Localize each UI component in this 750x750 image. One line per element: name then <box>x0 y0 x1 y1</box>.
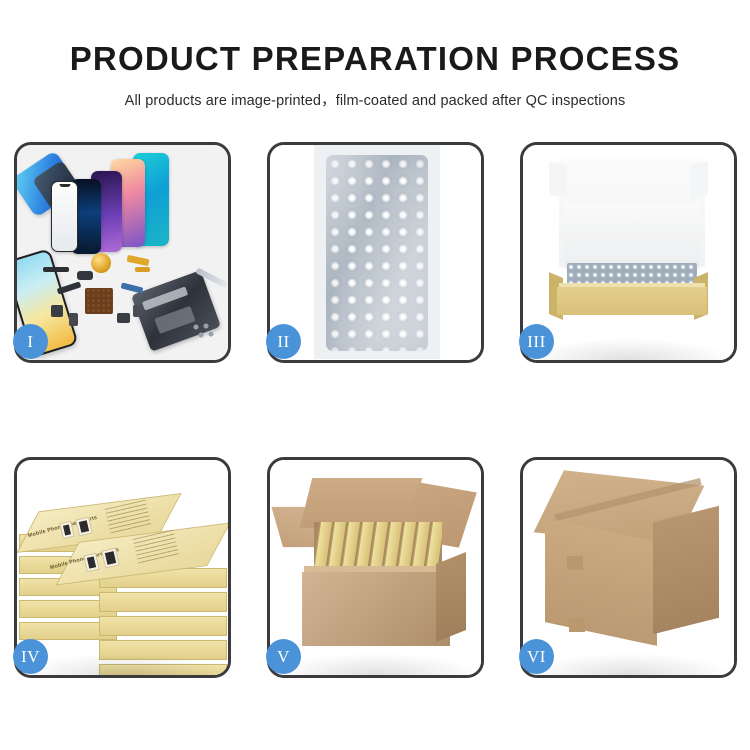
carton-flap-back <box>300 478 422 528</box>
step-image-inner-box <box>523 145 734 360</box>
drop-shadow <box>523 338 734 360</box>
steps-grid: I II III <box>14 142 736 678</box>
step-image-carton-sealed <box>523 460 734 675</box>
logic-board-icon <box>131 270 221 352</box>
flex-cable-icon <box>127 255 150 266</box>
chip-array-icon <box>85 288 113 314</box>
step-panel-3[interactable]: III <box>520 142 737 363</box>
speaker-module-icon <box>91 253 111 273</box>
stack-box-f3 <box>99 616 227 636</box>
header: PRODUCT PREPARATION PROCESS All products… <box>0 0 750 110</box>
box-stack: Mobile Phone Spare Parts Mobile Phone Sp… <box>17 476 228 668</box>
page-subtitle: All products are image-printed，film-coat… <box>0 89 750 110</box>
step-badge-2: II <box>266 324 301 359</box>
step-panel-2[interactable]: II <box>267 142 484 363</box>
step-panel-1[interactable]: I <box>14 142 231 363</box>
component-chip-icon <box>117 313 130 323</box>
carton-front-panel <box>302 572 450 646</box>
component-square-icon <box>51 305 63 317</box>
phone-white-icon <box>51 181 78 252</box>
drop-shadow <box>270 653 481 675</box>
step-image-bubble-wrap <box>270 145 481 360</box>
component-connector-icon <box>69 313 78 326</box>
earpiece-icon <box>43 267 69 272</box>
step-badge-5: V <box>266 639 301 674</box>
stack-box-f2 <box>99 592 227 612</box>
page-title: PRODUCT PREPARATION PROCESS <box>0 42 750 75</box>
product-preparation-infographic: PRODUCT PREPARATION PROCESS All products… <box>0 0 750 750</box>
carton-tab-upper <box>567 556 583 570</box>
drop-shadow <box>523 653 734 675</box>
step-badge-6: VI <box>519 639 554 674</box>
step-badge-1: I <box>13 324 48 359</box>
bubble-wrap-icon <box>326 155 428 351</box>
carton-side-panel <box>436 552 466 642</box>
step-badge-4: IV <box>13 639 48 674</box>
step-panel-4[interactable]: Mobile Phone Spare Parts Mobile Phone Sp… <box>14 457 231 678</box>
step-image-products <box>17 145 228 360</box>
flex-cable-small-icon <box>135 267 150 272</box>
foam-sheet <box>565 203 699 269</box>
camera-module-icon <box>77 271 93 280</box>
screws-icon <box>193 323 215 339</box>
mailer-lid-tab-left <box>549 161 567 199</box>
ribbon-cable-blue-icon <box>121 282 144 293</box>
mailer-lid-tab-right <box>690 161 708 199</box>
carton-tab-lower <box>569 618 585 632</box>
mailer-front-panel <box>557 287 707 315</box>
component-module-icon <box>133 305 143 317</box>
step-image-stacked-boxes: Mobile Phone Spare Parts Mobile Phone Sp… <box>17 460 228 675</box>
sealed-carton-side <box>653 506 719 634</box>
step-panel-6[interactable]: VI <box>520 457 737 678</box>
drop-shadow <box>17 653 228 675</box>
step-panel-5[interactable]: V <box>267 457 484 678</box>
step-image-carton-filled <box>270 460 481 675</box>
step-badge-3: III <box>519 324 554 359</box>
